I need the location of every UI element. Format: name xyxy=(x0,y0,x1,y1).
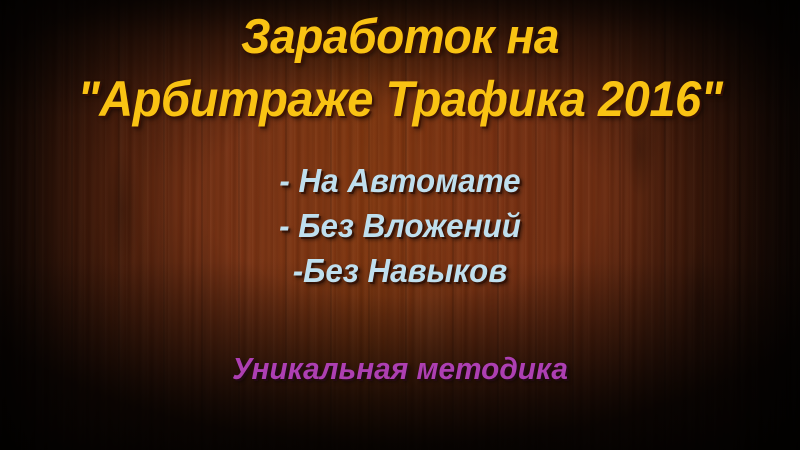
bullet-item-no-skills: -Без Навыков xyxy=(20,248,780,293)
tagline-text: Уникальная методика xyxy=(16,349,784,389)
bullet-item-no-investment: - Без Вложений xyxy=(20,203,780,248)
bullet-item-automatic: - На Автомате xyxy=(20,158,780,203)
slide-content: Заработок на "Арбитраже Трафика 2016" - … xyxy=(0,0,800,450)
title-slide: Заработок на "Арбитраже Трафика 2016" - … xyxy=(0,0,800,450)
tagline-block: Уникальная методика xyxy=(0,349,800,389)
feature-bullet-list: - На Автомате - Без Вложений -Без Навыко… xyxy=(0,158,800,293)
title-line-1: Заработок на xyxy=(24,6,776,68)
title-block: Заработок на "Арбитраже Трафика 2016" xyxy=(0,6,800,130)
title-line-2: "Арбитраже Трафика 2016" xyxy=(24,68,776,130)
